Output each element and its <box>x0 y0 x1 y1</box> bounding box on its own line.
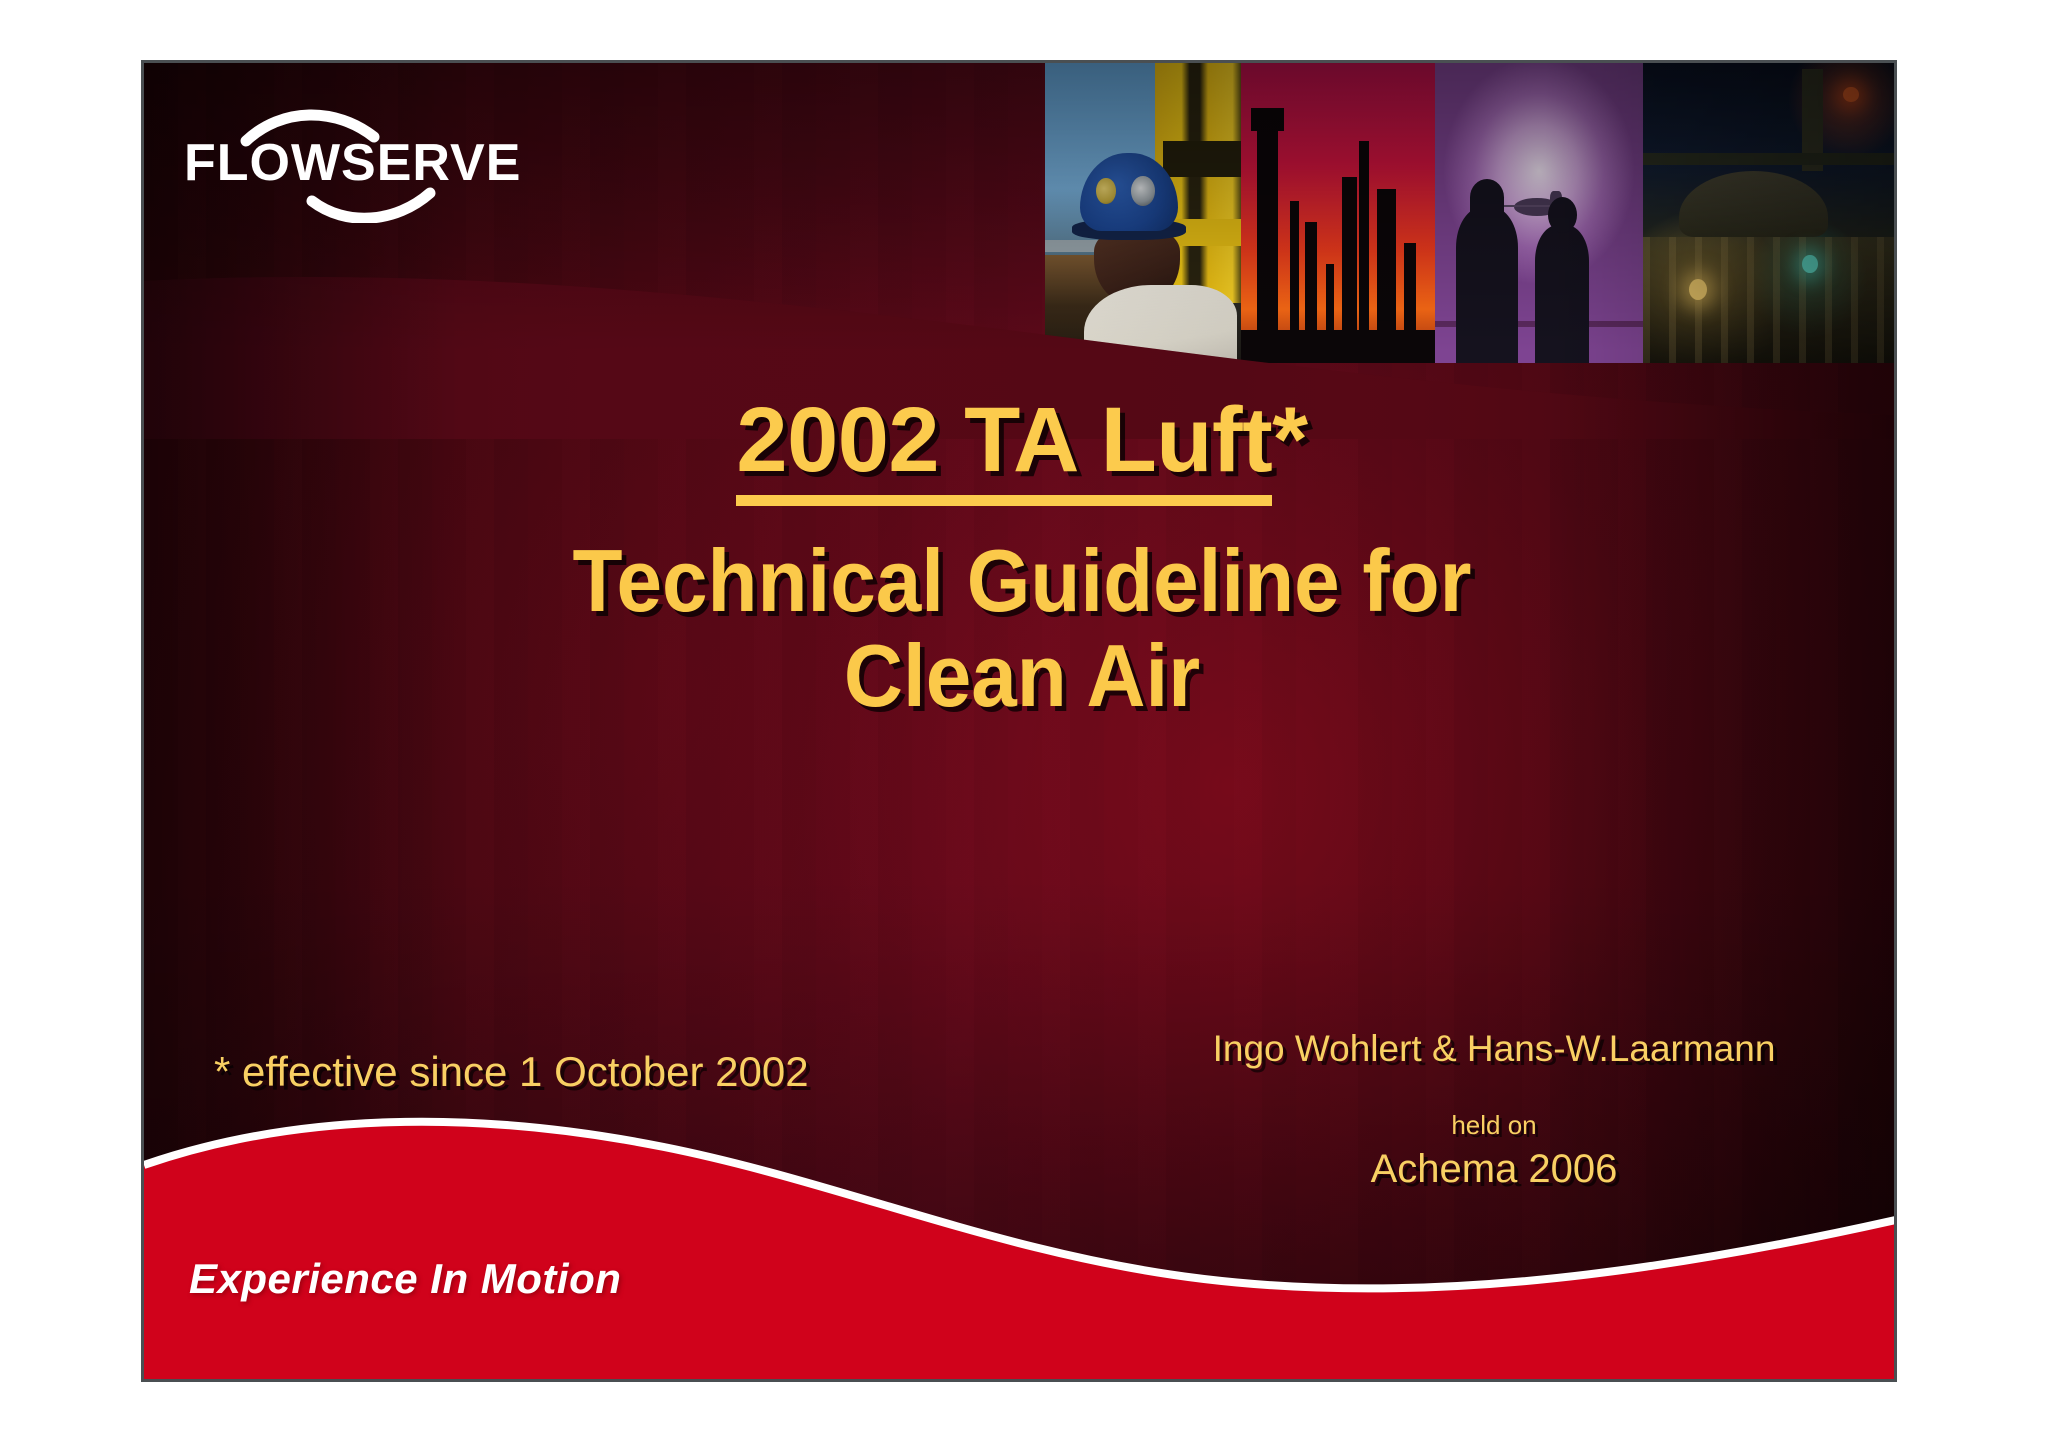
presenter-block: Ingo Wohlert & Hans-W.Laarmann held on A… <box>1144 1028 1844 1192</box>
presentation-slide: FLOWSERVE 2002 TA Luft* Technical Guidel… <box>141 60 1897 1382</box>
flowserve-wordmark: FLOWSERVE <box>184 137 494 189</box>
page-subtitle: Technical Guideline for Clean Air <box>205 533 1838 723</box>
held-on-label: held on <box>1144 1110 1844 1141</box>
flowserve-logo: FLOWSERVE <box>184 93 494 223</box>
effective-date-footnote: * effective since 1 October 2002 <box>214 1048 809 1096</box>
page-title-asterisk: * <box>1272 389 1307 491</box>
event-name: Achema 2006 <box>1144 1147 1844 1192</box>
title-block: 2002 TA Luft* Technical Guideline for Cl… <box>144 393 1897 723</box>
page-subtitle-line-1: Technical Guideline for <box>205 533 1838 628</box>
page-title: 2002 TA Luft* <box>736 393 1307 489</box>
page-subtitle-line-2: Clean Air <box>205 628 1838 723</box>
brand-tagline: Experience In Motion <box>189 1255 621 1303</box>
presenter-names: Ingo Wohlert & Hans-W.Laarmann <box>1144 1028 1844 1070</box>
page-title-underlined-part: 2002 TA Luft <box>736 389 1272 506</box>
